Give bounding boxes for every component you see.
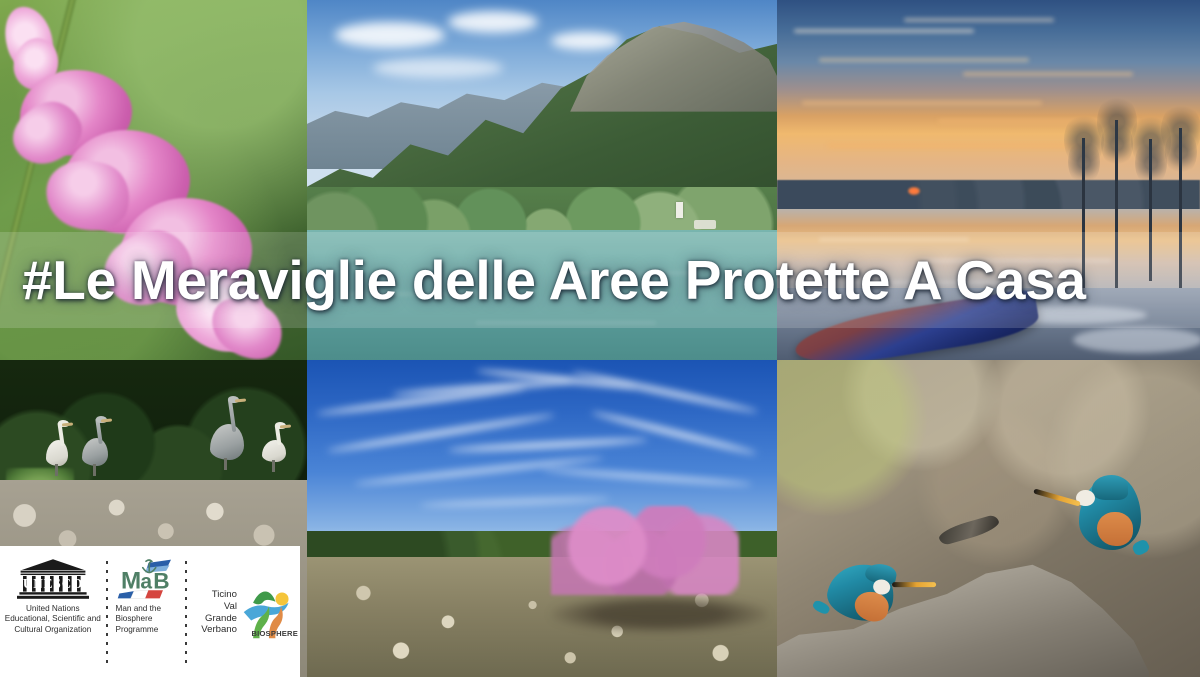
photo-mountain-valley-river	[307, 0, 777, 360]
mab-caption-line-1: Man and the	[116, 604, 181, 614]
photo-heather-dry-meadow	[307, 360, 777, 677]
unesco-caption: United Nations Educational, Scientific a…	[5, 604, 101, 635]
mab-caption: Man and the Biosphere Programme	[112, 604, 181, 635]
reserve-name-line-3: Verbano	[191, 624, 237, 636]
unesco-caption-line-2: Educational, Scientific and	[5, 614, 101, 624]
kingfisher-right	[1079, 476, 1141, 550]
photo-pink-gladiolus-flowers	[0, 0, 307, 360]
reserve-name-line-1: Ticino	[191, 589, 237, 601]
svg-text:a: a	[141, 571, 153, 594]
biosphere-badge: BIOSPHERE	[251, 629, 298, 638]
mab-icon: M a B	[117, 558, 175, 600]
kingfisher-left	[823, 559, 898, 626]
photo-winter-river-sunset	[777, 0, 1200, 360]
biosphere-swoosh-icon: BIOSPHERE	[240, 584, 296, 642]
unesco-temple-icon: UNESCO	[17, 558, 89, 600]
banner-root: #Le Meraviglie delle Aree Protette A Cas…	[0, 0, 1200, 677]
logo-panel: UNESCO United Nations Educational, Scien…	[0, 546, 300, 677]
fish-in-beak	[937, 513, 1001, 545]
photo-kingfishers-on-log	[777, 360, 1200, 677]
reserve-name-line-2: Val Grande	[191, 601, 237, 624]
logo-biosphere-reserve: Ticino Val Grande Verbano	[191, 552, 296, 673]
mab-caption-line-2: Biosphere	[116, 614, 181, 624]
logo-unesco: UNESCO United Nations Educational, Scien…	[4, 552, 102, 673]
svg-text:B: B	[154, 569, 170, 594]
mab-caption-line-3: Programme	[116, 625, 181, 635]
reserve-name: Ticino Val Grande Verbano	[191, 589, 237, 635]
logo-divider-2	[185, 561, 187, 665]
svg-text:M: M	[121, 568, 141, 595]
unesco-caption-line-3: Cultural Organization	[5, 625, 101, 635]
logo-divider-1	[106, 561, 108, 665]
logo-mab: M a B Man and the Biosphere Programme	[112, 552, 181, 673]
svg-text:UNESCO: UNESCO	[23, 576, 83, 591]
unesco-caption-line-1: United Nations	[5, 604, 101, 614]
